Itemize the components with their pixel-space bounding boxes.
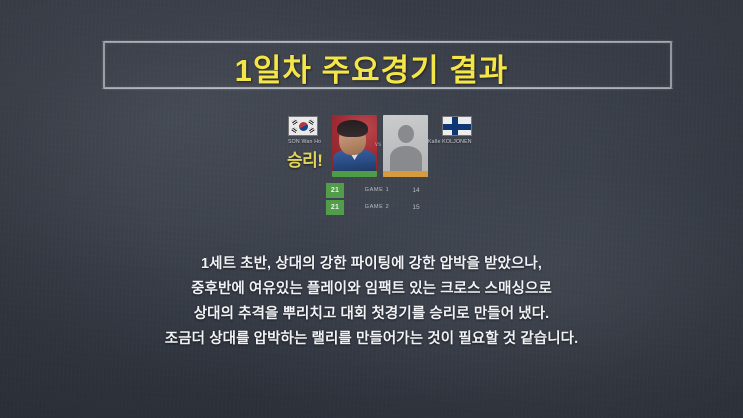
right-player-accent-bar — [383, 171, 428, 177]
match-result-card: SON Wan Ho 승리! Kalle KOLJONEN vs — [285, 113, 475, 215]
page-title: 1일차 주요경기 결과 — [0, 45, 743, 90]
win-badge: 승리! — [287, 146, 322, 171]
right-score: 15 — [407, 200, 425, 215]
commentary-line: 1세트 초반, 상대의 강한 파이팅에 강한 압박을 받았으나, — [0, 252, 743, 277]
game-label: GAME 2 — [357, 200, 397, 215]
score-row: 21 GAME 2 15 — [285, 200, 475, 215]
left-score: 21 — [326, 183, 344, 198]
commentary-line: 상대의 추격을 뿌리치고 대회 첫경기를 승리로 만들어 냈다. — [0, 302, 743, 327]
left-score: 21 — [326, 200, 344, 215]
left-player-name: SON Wan Ho — [288, 139, 332, 145]
right-player-name: Kalle KOLJONEN — [428, 139, 472, 145]
commentary-block: 1세트 초반, 상대의 강한 파이팅에 강한 압박을 받았으나, 중후반에 여유… — [0, 252, 743, 352]
vs-label: vs — [375, 142, 382, 148]
match-header: SON Wan Ho 승리! Kalle KOLJONEN vs — [285, 113, 475, 181]
finland-flag-icon — [442, 116, 472, 136]
commentary-line: 중후반에 여유있는 플레이와 임팩트 있는 크로스 스매싱으로 — [0, 277, 743, 302]
south-korea-flag-icon — [288, 116, 318, 136]
right-score: 14 — [407, 183, 425, 198]
right-player-portrait — [383, 115, 428, 177]
left-player-portrait — [332, 115, 377, 177]
left-player-accent-bar — [332, 171, 377, 177]
commentary-line: 조금더 상대를 압박하는 랠리를 만들어가는 것이 필요할 것 같습니다. — [0, 327, 743, 352]
score-row: 21 GAME 1 14 — [285, 183, 475, 198]
game-label: GAME 1 — [357, 183, 397, 198]
presentation-slide: 1일차 주요경기 결과 SON Wan Ho 승리! Kalle KOLJONE… — [0, 0, 743, 418]
